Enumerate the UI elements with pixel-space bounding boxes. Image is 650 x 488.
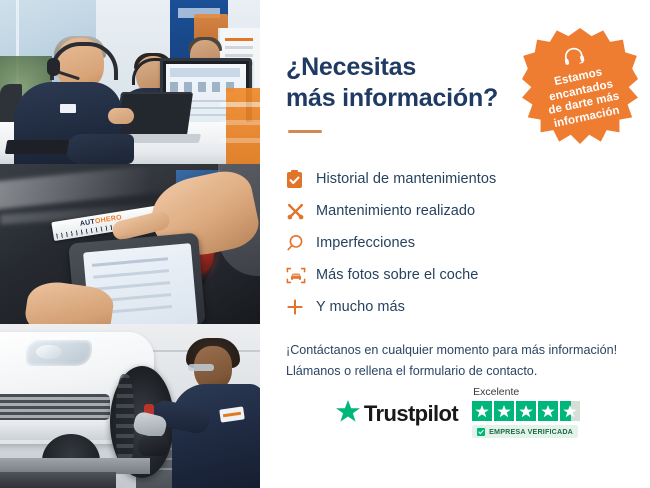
verified-badge: EMPRESA VERIFICADA [472, 425, 578, 438]
page-title: ¿Necesitas más información? [286, 52, 526, 113]
feature-list: Historial de mantenimientos M [286, 163, 624, 323]
trustpilot-wordmark: Trustpilot [364, 401, 458, 427]
title-divider [288, 130, 322, 133]
contact-text: ¡Contáctanos en cualquier momento para m… [286, 340, 624, 382]
star-3 [516, 401, 536, 421]
crossed-tools-icon [286, 202, 316, 221]
feature-item-imperfecciones: Imperfecciones [286, 227, 624, 259]
car-inspection-photo: AUTOHERO [0, 164, 260, 324]
car-photo-frame-icon [286, 266, 316, 285]
plus-icon [286, 298, 316, 316]
feature-item-historial: Historial de mantenimientos [286, 163, 624, 195]
trustpilot-rating: Excelente [472, 386, 580, 438]
verified-check-icon [477, 428, 485, 436]
contact-line-1: ¡Contáctanos en cualquier momento para m… [286, 340, 624, 361]
star-2 [494, 401, 514, 421]
promo-card: AUTOHERO [0, 0, 650, 488]
page-title-line-2: más información? [286, 83, 526, 114]
trustpilot-logo[interactable]: Trustpilot [336, 400, 458, 438]
contact-line-2: Llámanos o rellena el formulario de cont… [286, 361, 624, 382]
call-center-agents-photo [0, 0, 260, 164]
support-badge: Estamos encantados de darte más informac… [522, 28, 638, 144]
feature-label: Historial de mantenimientos [316, 171, 496, 187]
trustpilot-rating-label: Excelente [473, 386, 519, 398]
star-5 [560, 401, 580, 421]
feature-label: Imperfecciones [316, 235, 415, 251]
feature-label: Mantenimiento realizado [316, 203, 475, 219]
magnifier-icon [286, 234, 316, 252]
feature-item-mucho-mas: Y mucho más [286, 291, 624, 323]
trustpilot-star-icon [336, 400, 360, 428]
feature-label: Más fotos sobre el coche [316, 267, 478, 283]
content-panel: ¿Necesitas más información? Estamos enca… [260, 0, 650, 488]
trustpilot-stars [472, 401, 580, 421]
trustpilot-block[interactable]: Trustpilot Excelente [286, 386, 630, 438]
verified-label: EMPRESA VERIFICADA [489, 427, 573, 436]
mechanic-wheel-photo [0, 324, 260, 488]
feature-label: Y mucho más [316, 299, 405, 315]
star-1 [472, 401, 492, 421]
page-title-line-1: ¿Necesitas [286, 52, 526, 83]
feature-item-fotos: Más fotos sobre el coche [286, 259, 624, 291]
clipboard-check-icon [286, 170, 316, 189]
photo-column: AUTOHERO [0, 0, 260, 488]
star-4 [538, 401, 558, 421]
feature-item-mantenimiento: Mantenimiento realizado [286, 195, 624, 227]
